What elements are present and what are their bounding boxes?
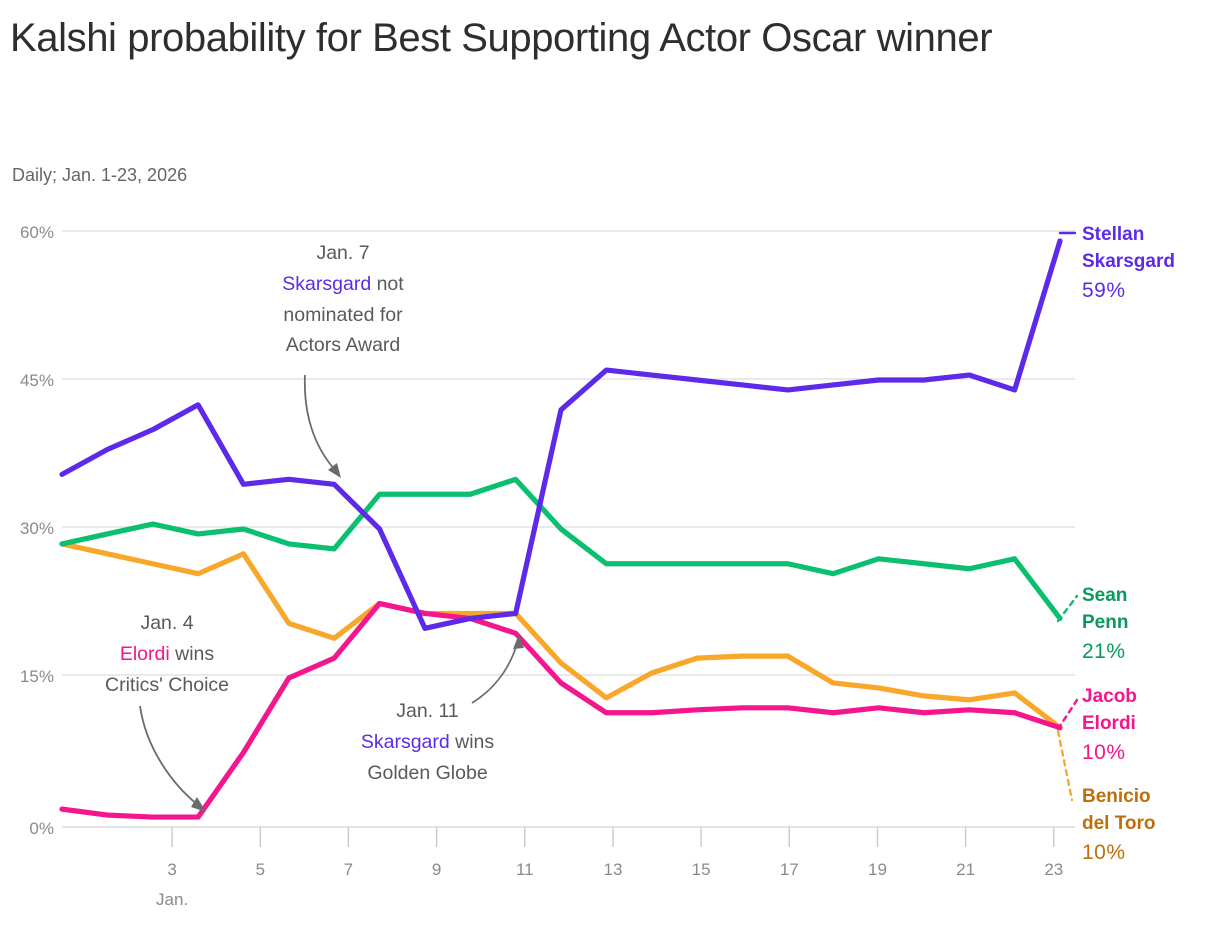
x-tick-15: 15 — [692, 860, 711, 879]
leader-line-jacob-elordi — [1058, 700, 1077, 729]
annotation-jan7-rest: not — [371, 273, 404, 295]
end-label-benicio-del-toro-value: 10% — [1082, 838, 1156, 868]
end-label-stellan-skarsgard-value: 59% — [1082, 276, 1175, 306]
chart-page: Kalshi probability for Best Supporting A… — [0, 0, 1220, 926]
annotation-jan4: Jan. 4 Elordi wins Critics' Choice — [62, 608, 272, 700]
x-tick-3: 3 — [167, 860, 176, 879]
x-tick-7: 7 — [344, 860, 353, 879]
x-tick-19: 19 — [868, 860, 887, 879]
leader-line-benicio-del-toro — [1058, 731, 1072, 800]
gridlines — [62, 231, 1075, 827]
annotation-jan4-line1: Elordi wins — [62, 639, 272, 670]
series-lines — [62, 241, 1060, 817]
annotation-jan11: Jan. 11 Skarsgard wins Golden Globe — [325, 696, 530, 788]
series-line-sean-penn — [62, 479, 1060, 618]
y-axis-tick-labels: 60% 45% 30% 15% 0% — [20, 223, 54, 838]
label-leader-lines — [1058, 233, 1077, 800]
end-label-stellan-skarsgard-line1: Stellan — [1082, 222, 1175, 249]
annotation-jan7-line3: Actors Award — [218, 330, 468, 361]
x-tick-11: 11 — [516, 860, 534, 879]
y-tick-15: 15% — [20, 667, 54, 686]
end-label-jacob-elordi-line2: Elordi — [1082, 711, 1137, 738]
end-label-benicio-del-toro-line1: Benicio — [1082, 784, 1156, 811]
annotation-jan7-date: Jan. 7 — [218, 238, 468, 269]
x-tick-23: 23 — [1044, 860, 1063, 879]
leader-line-sean-penn — [1058, 596, 1077, 621]
line-chart: 60% 45% 30% 15% 0% 3 5 7 9 11 13 15 — [0, 0, 1220, 926]
annotation-jan11-rest: wins — [450, 731, 494, 753]
x-tick-17: 17 — [780, 860, 799, 879]
annotation-jan11-highlight: Skarsgard — [361, 731, 450, 753]
end-label-sean-penn-value: 21% — [1082, 637, 1128, 667]
end-label-sean-penn: Sean Penn 21% — [1082, 583, 1128, 667]
annotation-jan7: Jan. 7 Skarsgard not nominated for Actor… — [218, 238, 468, 361]
x-axis-title: Jan. — [156, 890, 188, 909]
x-tick-5: 5 — [256, 860, 265, 879]
annotation-jan4-line2: Critics' Choice — [62, 670, 272, 701]
y-tick-60: 60% — [20, 223, 54, 242]
end-label-benicio-del-toro: Benicio del Toro 10% — [1082, 784, 1156, 868]
y-tick-45: 45% — [20, 371, 54, 390]
end-label-jacob-elordi-value: 10% — [1082, 738, 1137, 768]
end-label-benicio-del-toro-line2: del Toro — [1082, 811, 1156, 838]
end-label-stellan-skarsgard-line2: Skarsgard — [1082, 249, 1175, 276]
end-label-jacob-elordi: Jacob Elordi 10% — [1082, 684, 1137, 768]
end-label-stellan-skarsgard: Stellan Skarsgard 59% — [1082, 222, 1175, 306]
arrow-jan4-curve — [140, 706, 198, 805]
y-tick-30: 30% — [20, 519, 54, 538]
annotation-jan4-rest: wins — [170, 643, 214, 665]
annotation-jan11-line1: Skarsgard wins — [325, 727, 530, 758]
y-tick-0: 0% — [29, 819, 54, 838]
x-tick-13: 13 — [604, 860, 623, 879]
arrow-jan7-head — [328, 463, 341, 478]
arrow-jan7-curve — [305, 375, 337, 472]
x-axis-tick-labels: 3 5 7 9 11 13 15 17 19 21 23 Jan. — [156, 860, 1063, 909]
annotation-jan11-line2: Golden Globe — [325, 758, 530, 789]
x-tick-9: 9 — [432, 860, 441, 879]
end-label-sean-penn-line1: Sean — [1082, 583, 1128, 610]
annotation-jan4-highlight: Elordi — [120, 643, 170, 665]
annotation-jan7-line1: Skarsgard not — [218, 269, 468, 300]
end-label-jacob-elordi-line1: Jacob — [1082, 684, 1137, 711]
x-tick-21: 21 — [956, 860, 975, 879]
annotation-jan7-line2: nominated for — [218, 300, 468, 331]
end-label-sean-penn-line2: Penn — [1082, 610, 1128, 637]
x-axis-ticks — [172, 827, 1054, 847]
arrow-jan11-curve — [472, 644, 517, 703]
annotation-jan4-date: Jan. 4 — [62, 608, 272, 639]
annotation-jan11-date: Jan. 11 — [325, 696, 530, 727]
annotation-jan7-highlight: Skarsgard — [282, 273, 371, 295]
